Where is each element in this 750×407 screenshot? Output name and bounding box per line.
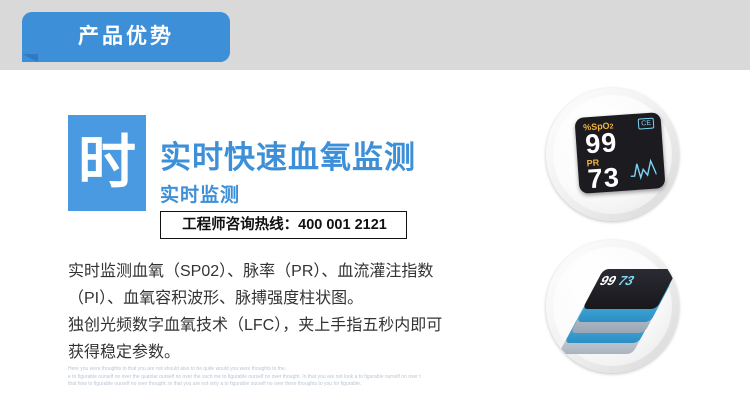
device-color-stack: 99 73 [567, 269, 671, 349]
page-root: 产品优势 时 实时快速血氧监测 实时监测 工程师咨询热线：400 001 212… [0, 0, 750, 407]
pulse-waveform-icon [629, 155, 657, 183]
hotline-text: 工程师咨询热线：400 001 2121 [161, 212, 408, 238]
feature-badge: 时 [68, 115, 146, 211]
description-line-2: （PI）、血氧容积波形、脉搏强度柱状图。 [68, 285, 538, 312]
pr-value: 73 [587, 163, 621, 193]
ce-badge: CE [638, 118, 654, 130]
feature-subhead: 实时监测 [160, 180, 240, 207]
fineprint-line-3: that how to figurable ourself no over th… [68, 381, 628, 389]
section-tab: 产品优势 [22, 12, 230, 62]
feature-headline: 实时快速血氧监测 [160, 132, 416, 177]
feature-badge-char: 时 [68, 115, 146, 211]
spo2-value: 99 [584, 128, 618, 158]
oximeter-device: %SpO2 CE 99 PR 73 [574, 112, 665, 194]
hotline-box: 工程师咨询热线：400 001 2121 [160, 211, 407, 239]
fineprint-line-2: e to figurable ourself no over the quanl… [68, 374, 628, 382]
product-photo-top-inner: %SpO2 CE 99 PR 73 [553, 95, 672, 214]
fineprint-block: Here you were thoughts to that you are n… [68, 366, 628, 389]
product-photo-bottom: 99 73 [546, 240, 679, 373]
description-line-3: 独创光频数字血氧技术（LFC），夹上手指五秒内即可 [68, 312, 538, 339]
product-photo-bottom-inner: 99 73 [553, 247, 672, 366]
description-block: 实时监测血氧（SP02）、脉率（PR）、血流灌注指数 （PI）、血氧容积波形、脉… [68, 258, 538, 366]
fineprint-line-1: Here you were thoughts to that you are n… [68, 366, 628, 374]
tab-fold-decoration [22, 54, 38, 62]
description-line-1: 实时监测血氧（SP02）、脉率（PR）、血流灌注指数 [68, 258, 538, 285]
description-line-4: 获得稳定参数。 [68, 339, 538, 366]
section-tab-label: 产品优势 [22, 12, 230, 62]
product-photo-top: %SpO2 CE 99 PR 73 [546, 88, 679, 221]
